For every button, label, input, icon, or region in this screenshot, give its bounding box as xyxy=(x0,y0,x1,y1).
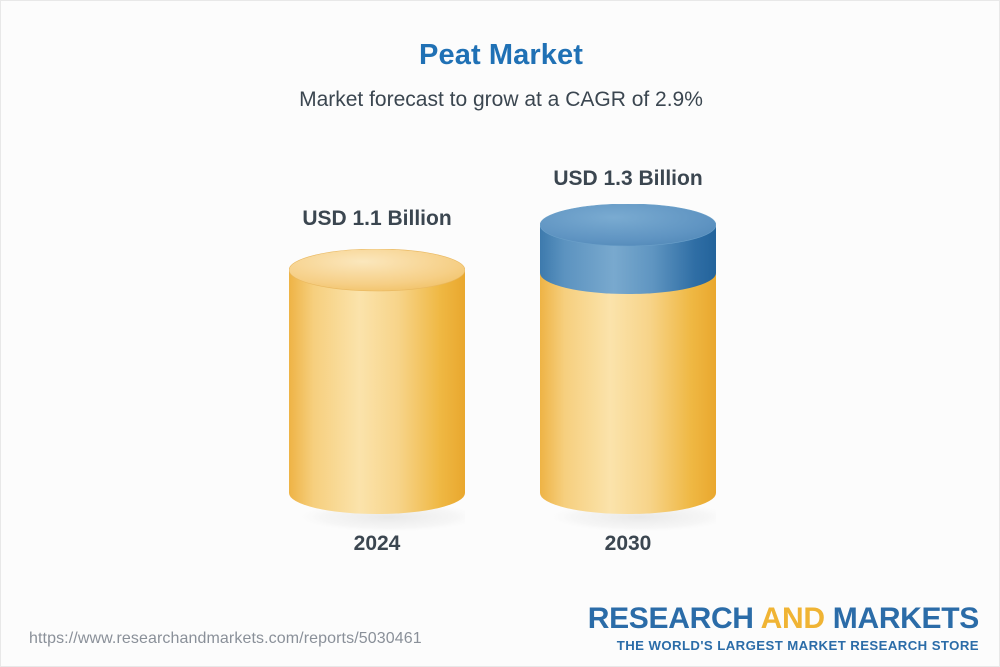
cylinder-2030[interactable] xyxy=(540,204,716,514)
footer: https://www.researchandmarkets.com/repor… xyxy=(1,594,1000,666)
cylinder-body xyxy=(289,270,465,514)
cylinder-top-cap xyxy=(540,204,716,246)
cylinder-top-cap xyxy=(289,249,465,291)
research-and-markets-logo[interactable]: RESEARCH AND MARKETS THE WORLD'S LARGEST… xyxy=(588,604,979,652)
value-label-2024: USD 1.1 Billion xyxy=(249,207,505,231)
logo-tagline: THE WORLD'S LARGEST MARKET RESEARCH STOR… xyxy=(588,639,979,652)
cylinder-2024[interactable] xyxy=(289,249,465,514)
cylinder-body-base xyxy=(540,273,716,514)
value-label-2030: USD 1.3 Billion xyxy=(500,167,756,191)
logo-word-markets: MARKETS xyxy=(833,602,979,635)
category-label-2030: 2030 xyxy=(500,532,756,556)
source-url[interactable]: https://www.researchandmarkets.com/repor… xyxy=(29,630,422,648)
logo-word-and: AND xyxy=(761,602,825,635)
logo-word-research: RESEARCH xyxy=(588,602,754,635)
chart-canvas: Peat Market Market forecast to grow at a… xyxy=(0,0,1000,667)
plot-area: USD 1.1 Billion xyxy=(1,1,1000,601)
logo-wordmark: RESEARCH AND MARKETS xyxy=(588,604,979,634)
category-label-2024: 2024 xyxy=(249,532,505,556)
